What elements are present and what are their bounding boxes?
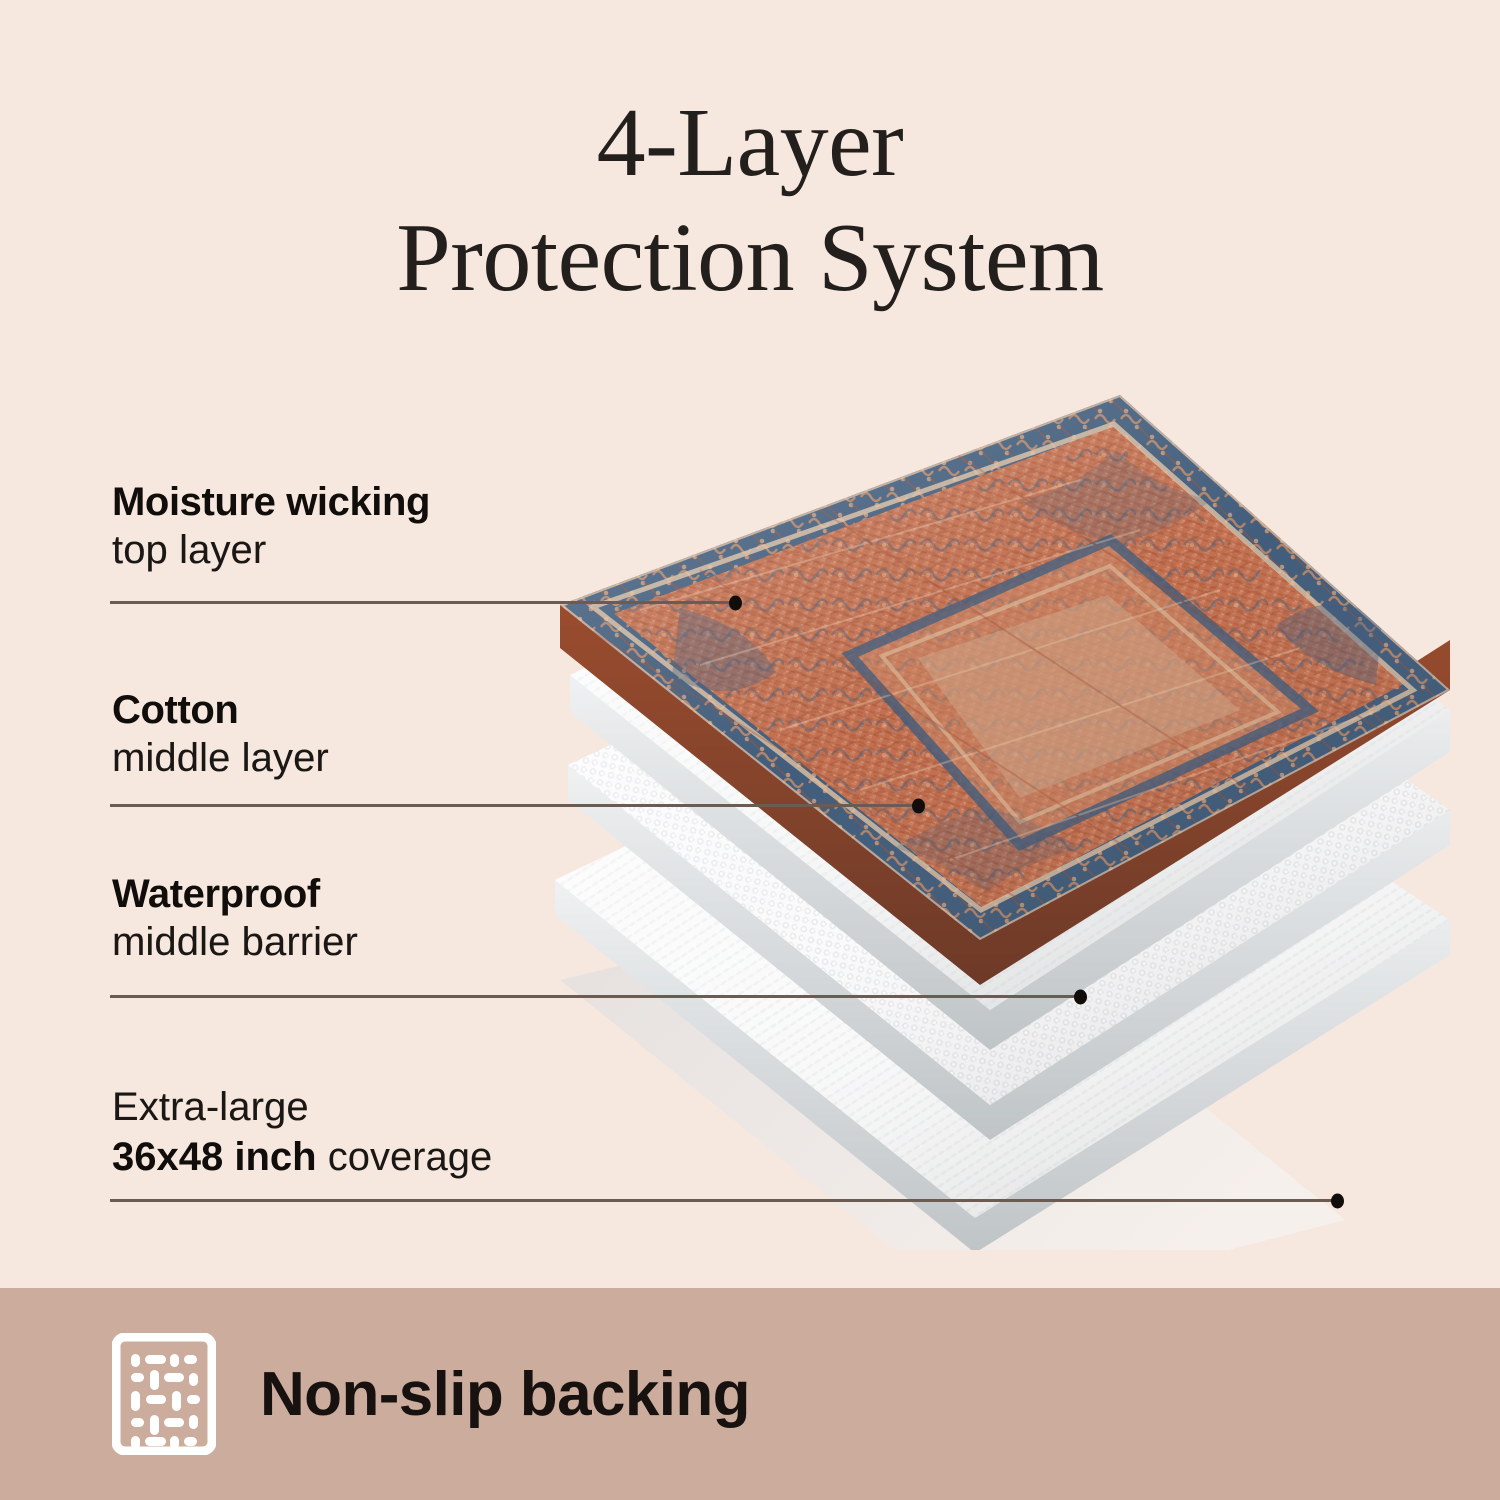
size-callout: Extra-large 36x48 inch coverage bbox=[112, 1082, 492, 1182]
layer-label-cotton: Cotton middle layer bbox=[112, 688, 329, 783]
infographic-canvas: 4-Layer Protection System bbox=[0, 0, 1500, 1500]
size-dimension: 36x48 inch bbox=[112, 1135, 317, 1179]
page-title-line-1: 4-Layer bbox=[0, 86, 1500, 201]
layer-1-heading: Moisture wicking bbox=[112, 480, 430, 525]
leader-line-size-callout bbox=[110, 1199, 1339, 1202]
non-slip-weave-icon bbox=[112, 1333, 216, 1455]
leader-line-layer-1 bbox=[110, 601, 737, 604]
layer-1-subtext: top layer bbox=[112, 525, 430, 575]
leader-line-layer-3 bbox=[110, 995, 1082, 998]
size-callout-line-2: 36x48 inch coverage bbox=[112, 1132, 492, 1182]
layer-label-waterproof: Waterproof middle barrier bbox=[112, 872, 358, 967]
layer-2-subtext: middle layer bbox=[112, 733, 329, 783]
layer-3-subtext: middle barrier bbox=[112, 917, 358, 967]
leader-line-layer-2 bbox=[110, 804, 920, 807]
layer-3-heading: Waterproof bbox=[112, 872, 358, 917]
exploded-layer-stack-illustration bbox=[520, 380, 1450, 1250]
size-callout-line-1: Extra-large bbox=[112, 1082, 492, 1132]
layer-2-heading: Cotton bbox=[112, 688, 329, 733]
layer-label-moisture-wicking: Moisture wicking top layer bbox=[112, 480, 430, 575]
non-slip-banner: Non-slip backing bbox=[0, 1288, 1500, 1500]
page-title: 4-Layer Protection System bbox=[0, 86, 1500, 315]
size-callout-suffix: coverage bbox=[317, 1135, 493, 1179]
non-slip-banner-label: Non-slip backing bbox=[260, 1359, 750, 1430]
page-title-line-2: Protection System bbox=[0, 201, 1500, 316]
